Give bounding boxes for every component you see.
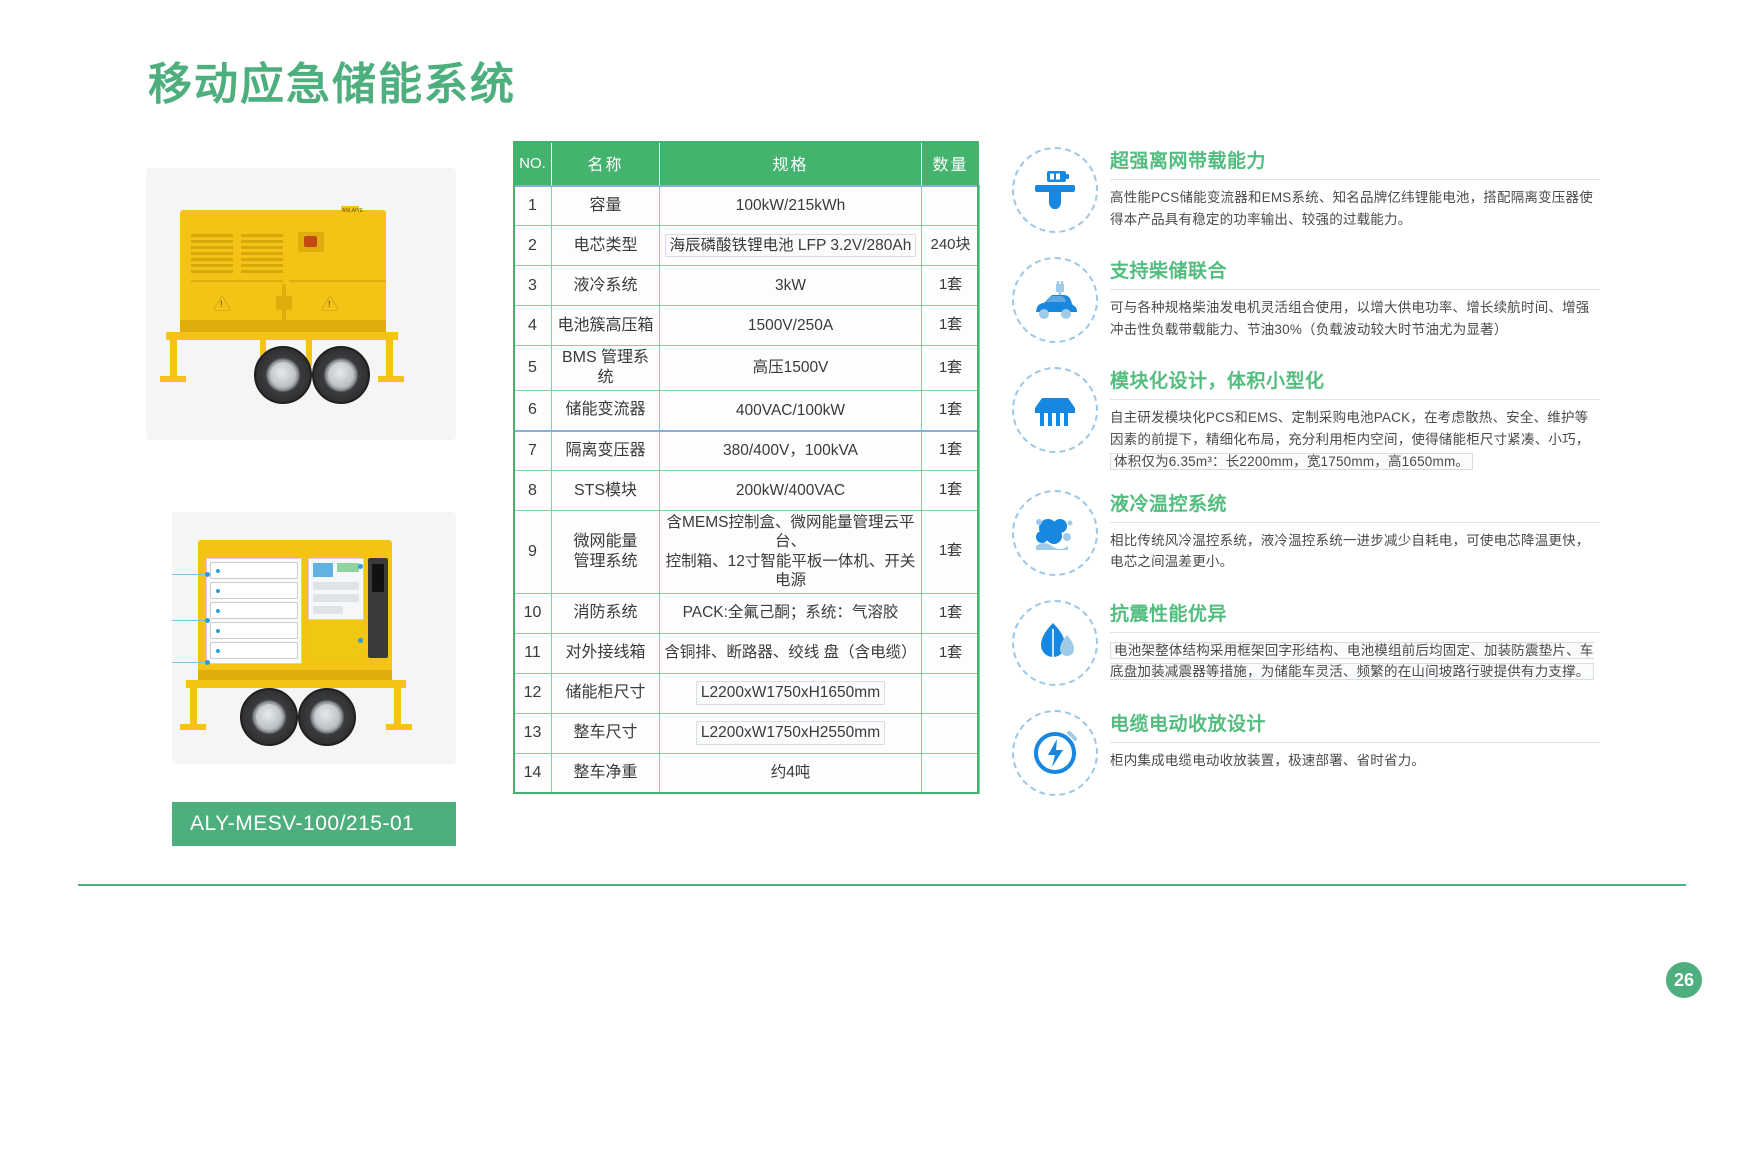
cell-spec: 100kW/215kWh <box>660 186 922 226</box>
product-exterior-photo: ANLAIYE <box>146 168 456 440</box>
feature-title: 液冷温控系统 <box>1110 489 1600 516</box>
cell-spec-text: L2200xW1750xH2550mm <box>696 721 885 744</box>
spec-table: NO. 名称 规格 数量 1 容量 100kW/215kWh 2 电芯类型 海辰… <box>513 141 980 794</box>
cell-spec-line2: 控制箱、12寸智能平板一体机、开关电源 <box>663 552 918 591</box>
feature-text: 超强离网带载能力 高性能PCS储能变流器和EMS系统、知名品牌亿纬锂能电池，搭配… <box>1110 140 1600 231</box>
cell-no: 6 <box>514 391 552 431</box>
cell-no: 1 <box>514 186 552 226</box>
feature-item-shock-resistance: 抗震性能优异 电池架整体结构采用框架回字形结构、电池模组前后均固定、加装防震垫片… <box>1000 593 1600 693</box>
page-title: 移动应急储能系统 <box>148 48 516 112</box>
shock-resistance-icon <box>1012 600 1098 686</box>
model-number-badge: ALY-MESV-100/215-01 <box>172 802 456 846</box>
cell-spec-text: 海辰磷酸铁锂电池 LFP 3.2V/280Ah <box>665 234 917 257</box>
cell-qty: 1套 <box>922 431 980 471</box>
feature-icon-wrap <box>1000 483 1110 583</box>
cell-name: BMS 管理系统 <box>552 346 660 391</box>
feature-icon-wrap <box>1000 250 1110 350</box>
table-row: 3 液冷系统 3kW 1套 <box>514 266 980 306</box>
cell-name: 微网能量 管理系统 <box>552 511 660 594</box>
cell-qty: 1套 <box>922 633 980 673</box>
cell-spec: 含MEMS控制盒、微网能量管理云平台、 控制箱、12寸智能平板一体机、开关电源 <box>660 511 922 594</box>
cell-name-line1: 微网能量 <box>555 532 656 552</box>
feature-item-cable-reel: 电缆电动收放设计 柜内集成电缆电动收放装置，极速部署、省时省力。 <box>1000 703 1600 803</box>
feature-title: 模块化设计，体积小型化 <box>1110 366 1600 393</box>
feature-body-highlight: 电池架整体结构采用框架回字形结构、电池模组前后均固定、加装防震垫片、车底盘加装减… <box>1110 642 1594 681</box>
feature-list: 超强离网带载能力 高性能PCS储能变流器和EMS系统、知名品牌亿纬锂能电池，搭配… <box>1000 140 1600 813</box>
feature-icon-wrap <box>1000 703 1110 803</box>
cell-name: 电芯类型 <box>552 226 660 266</box>
cell-spec: 高压1500V <box>660 346 922 391</box>
feature-text: 支持柴储联合 可与各种规格柴油发电机灵活组合使用，以增大供电功率、增长续航时间、… <box>1110 250 1600 341</box>
feature-body: 柜内集成电缆电动收放装置，极速部署、省时省力。 <box>1110 750 1600 772</box>
column-header-qty: 数量 <box>922 142 980 186</box>
feature-text: 模块化设计，体积小型化 自主研发模块化PCS和EMS、定制采购电池PACK，在考… <box>1110 360 1600 473</box>
table-row: 7 隔离变压器 380/400V，100kVA 1套 <box>514 431 980 471</box>
liquid-cooling-icon <box>1012 490 1098 576</box>
cell-name: 整车净重 <box>552 753 660 793</box>
cell-qty: 1套 <box>922 511 980 594</box>
table-row: 8 STS模块 200kW/400VAC 1套 <box>514 471 980 511</box>
cell-no: 2 <box>514 226 552 266</box>
cell-no: 3 <box>514 266 552 306</box>
cell-qty <box>922 673 980 713</box>
cell-spec: PACK:全氟己酮；系统：气溶胶 <box>660 593 922 633</box>
cell-spec-text: L2200xW1750xH1650mm <box>696 681 885 704</box>
cell-name: 隔离变压器 <box>552 431 660 471</box>
cell-spec: 约4吨 <box>660 753 922 793</box>
feature-text: 抗震性能优异 电池架整体结构采用框架回字形结构、电池模组前后均固定、加装防震垫片… <box>1110 593 1600 684</box>
cell-name: 电池簇高压箱 <box>552 306 660 346</box>
cell-spec: 含铜排、断路器、绞线 盘（含电缆） <box>660 633 922 673</box>
feature-divider <box>1110 522 1600 523</box>
feature-divider <box>1110 399 1600 400</box>
column-header-spec: 规格 <box>660 142 922 186</box>
cell-name: STS模块 <box>552 471 660 511</box>
table-row: 1 容量 100kW/215kWh <box>514 186 980 226</box>
cell-qty: 1套 <box>922 266 980 306</box>
cell-no: 14 <box>514 753 552 793</box>
cell-no: 12 <box>514 673 552 713</box>
table-row: 11 对外接线箱 含铜排、断路器、绞线 盘（含电缆） 1套 <box>514 633 980 673</box>
cell-no: 7 <box>514 431 552 471</box>
feature-divider <box>1110 742 1600 743</box>
table-row: 14 整车净重 约4吨 <box>514 753 980 793</box>
cable-reel-icon <box>1012 710 1098 796</box>
feature-item-offgrid: 超强离网带载能力 高性能PCS储能变流器和EMS系统、知名品牌亿纬锂能电池，搭配… <box>1000 140 1600 240</box>
feature-item-modular: 模块化设计，体积小型化 自主研发模块化PCS和EMS、定制采购电池PACK，在考… <box>1000 360 1600 473</box>
column-header-no: NO. <box>514 142 552 186</box>
feature-body-highlight: 体积仅为6.35m³：长2200mm，宽1750mm，高1650mm。 <box>1110 453 1473 470</box>
cell-no: 10 <box>514 593 552 633</box>
cell-name: 储能变流器 <box>552 391 660 431</box>
cell-name: 液冷系统 <box>552 266 660 306</box>
cell-no: 5 <box>514 346 552 391</box>
column-header-name: 名称 <box>552 142 660 186</box>
feature-title: 超强离网带载能力 <box>1110 146 1600 173</box>
cell-spec: L2200xW1750xH1650mm <box>660 673 922 713</box>
feature-icon-wrap <box>1000 593 1110 693</box>
cell-no: 11 <box>514 633 552 673</box>
cell-name: 对外接线箱 <box>552 633 660 673</box>
feature-text: 液冷温控系统 相比传统风冷温控系统，液冷温控系统一进步减少自耗电，可使电芯降温更… <box>1110 483 1600 574</box>
cell-no: 9 <box>514 511 552 594</box>
cell-qty: 1套 <box>922 471 980 511</box>
cell-name: 储能柜尺寸 <box>552 673 660 713</box>
cell-qty <box>922 753 980 793</box>
feature-title: 支持柴储联合 <box>1110 256 1600 283</box>
warning-icon <box>214 296 230 310</box>
warning-icon <box>322 296 338 310</box>
feature-body: 自主研发模块化PCS和EMS、定制采购电池PACK，在考虑散热、安全、维护等因素… <box>1110 407 1600 473</box>
cell-spec: 3kW <box>660 266 922 306</box>
cell-qty: 1套 <box>922 346 980 391</box>
cell-spec: 380/400V，100kVA <box>660 431 922 471</box>
cell-qty: 1套 <box>922 391 980 431</box>
feature-body: 可与各种规格柴油发电机灵活组合使用，以增大供电功率、增长续航时间、增强冲击性负载… <box>1110 297 1600 341</box>
cell-spec: 1500V/250A <box>660 306 922 346</box>
cell-spec-line1: 含MEMS控制盒、微网能量管理云平台、 <box>663 513 918 552</box>
cell-name-line2: 管理系统 <box>555 552 656 572</box>
table-header-row: NO. 名称 规格 数量 <box>514 142 980 186</box>
feature-divider <box>1110 289 1600 290</box>
feature-divider <box>1110 179 1600 180</box>
cell-qty <box>922 186 980 226</box>
cell-spec: 400VAC/100kW <box>660 391 922 431</box>
feature-body-main: 自主研发模块化PCS和EMS、定制采购电池PACK，在考虑散热、安全、维护等因素… <box>1110 410 1590 447</box>
cell-no: 8 <box>514 471 552 511</box>
table-row: 12 储能柜尺寸 L2200xW1750xH1650mm <box>514 673 980 713</box>
table-row: 10 消防系统 PACK:全氟己酮；系统：气溶胶 1套 <box>514 593 980 633</box>
page-number-badge: 26 <box>1666 962 1702 998</box>
feature-body: 电池架整体结构采用框架回字形结构、电池模组前后均固定、加装防震垫片、车底盘加装减… <box>1110 640 1600 684</box>
cell-spec: L2200xW1750xH2550mm <box>660 713 922 753</box>
feature-item-diesel-storage: 支持柴储联合 可与各种规格柴油发电机灵活组合使用，以增大供电功率、增长续航时间、… <box>1000 250 1600 350</box>
cell-name: 消防系统 <box>552 593 660 633</box>
cell-name: 容量 <box>552 186 660 226</box>
cell-no: 4 <box>514 306 552 346</box>
modular-cabinet-icon <box>1012 367 1098 453</box>
table-row: 2 电芯类型 海辰磷酸铁锂电池 LFP 3.2V/280Ah 240块 <box>514 226 980 266</box>
feature-body: 相比传统风冷温控系统，液冷温控系统一进步减少自耗电，可使电芯降温更快，电芯之间温… <box>1110 530 1600 574</box>
cell-spec: 200kW/400VAC <box>660 471 922 511</box>
slide-page: 移动应急储能系统 ANLAIYE <box>0 0 1764 1172</box>
battery-offgrid-icon <box>1012 147 1098 233</box>
feature-body: 高性能PCS储能变流器和EMS系统、知名品牌亿纬锂能电池，搭配隔离变压器使得本产… <box>1110 187 1600 231</box>
spec-table-container: NO. 名称 规格 数量 1 容量 100kW/215kWh 2 电芯类型 海辰… <box>513 141 979 794</box>
cell-name: 整车尺寸 <box>552 713 660 753</box>
feature-text: 电缆电动收放设计 柜内集成电缆电动收放装置，极速部署、省时省力。 <box>1110 703 1600 772</box>
cell-qty: 1套 <box>922 593 980 633</box>
table-row: 9 微网能量 管理系统 含MEMS控制盒、微网能量管理云平台、 控制箱、12寸智… <box>514 511 980 594</box>
feature-icon-wrap <box>1000 140 1110 240</box>
product-interior-photo <box>172 512 456 764</box>
cell-qty: 1套 <box>922 306 980 346</box>
table-row: 5 BMS 管理系统 高压1500V 1套 <box>514 346 980 391</box>
footer-divider <box>78 884 1686 886</box>
cell-qty: 240块 <box>922 226 980 266</box>
cell-spec: 海辰磷酸铁锂电池 LFP 3.2V/280Ah <box>660 226 922 266</box>
feature-icon-wrap <box>1000 360 1110 460</box>
table-row: 4 电池簇高压箱 1500V/250A 1套 <box>514 306 980 346</box>
cell-no: 13 <box>514 713 552 753</box>
cell-qty <box>922 713 980 753</box>
table-row: 6 储能变流器 400VAC/100kW 1套 <box>514 391 980 431</box>
table-row: 13 整车尺寸 L2200xW1750xH2550mm <box>514 713 980 753</box>
feature-divider <box>1110 632 1600 633</box>
car-charging-icon <box>1012 257 1098 343</box>
feature-title: 抗震性能优异 <box>1110 599 1600 626</box>
feature-title: 电缆电动收放设计 <box>1110 709 1600 736</box>
feature-item-liquid-cooling: 液冷温控系统 相比传统风冷温控系统，液冷温控系统一进步减少自耗电，可使电芯降温更… <box>1000 483 1600 583</box>
